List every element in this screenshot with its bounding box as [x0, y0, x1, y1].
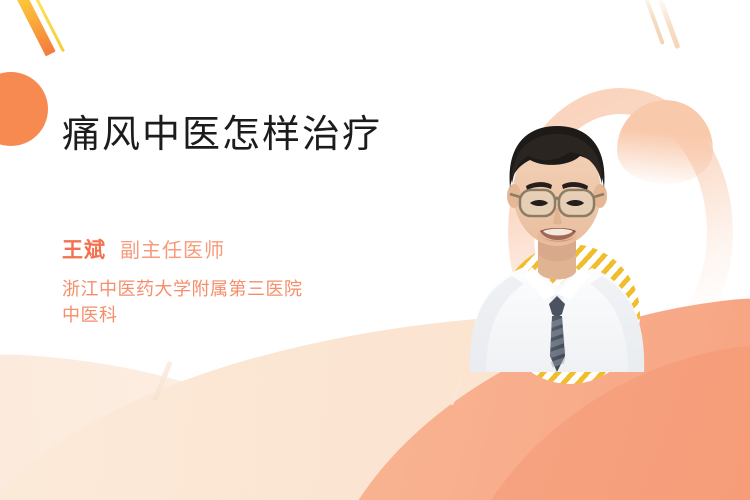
decor-diagonal-line-tan-b [657, 0, 681, 49]
doctor-name: 王斌 [62, 234, 106, 264]
background-wave-pale-left [0, 336, 450, 500]
decor-diagonal-line-faint-mid [450, 378, 462, 405]
decor-diagonal-line-tan-a [641, 0, 665, 45]
decor-diagonal-line-yellow [26, 0, 65, 52]
doctor-credential-line: 王斌 副主任医师 [62, 234, 462, 264]
doctor-video-cover-card: 痛风中医怎样治疗 王斌 副主任医师 浙江中医药大学附属第三医院 中医科 [0, 0, 750, 500]
doctor-rank: 副主任医师 [120, 234, 225, 263]
text-block: 痛风中医怎样治疗 王斌 副主任医师 浙江中医药大学附属第三医院 中医科 [62, 112, 462, 328]
page-title: 痛风中医怎样治疗 [62, 112, 462, 160]
decor-diagonal-line-faint-left [152, 361, 172, 402]
decor-diagonal-line-orange [11, 0, 55, 56]
doctor-portrait [452, 104, 662, 372]
doctor-department: 中医科 [62, 302, 462, 328]
doctor-hospital: 浙江中医药大学附属第三医院 [62, 276, 462, 302]
decor-circle-orange [0, 72, 48, 146]
